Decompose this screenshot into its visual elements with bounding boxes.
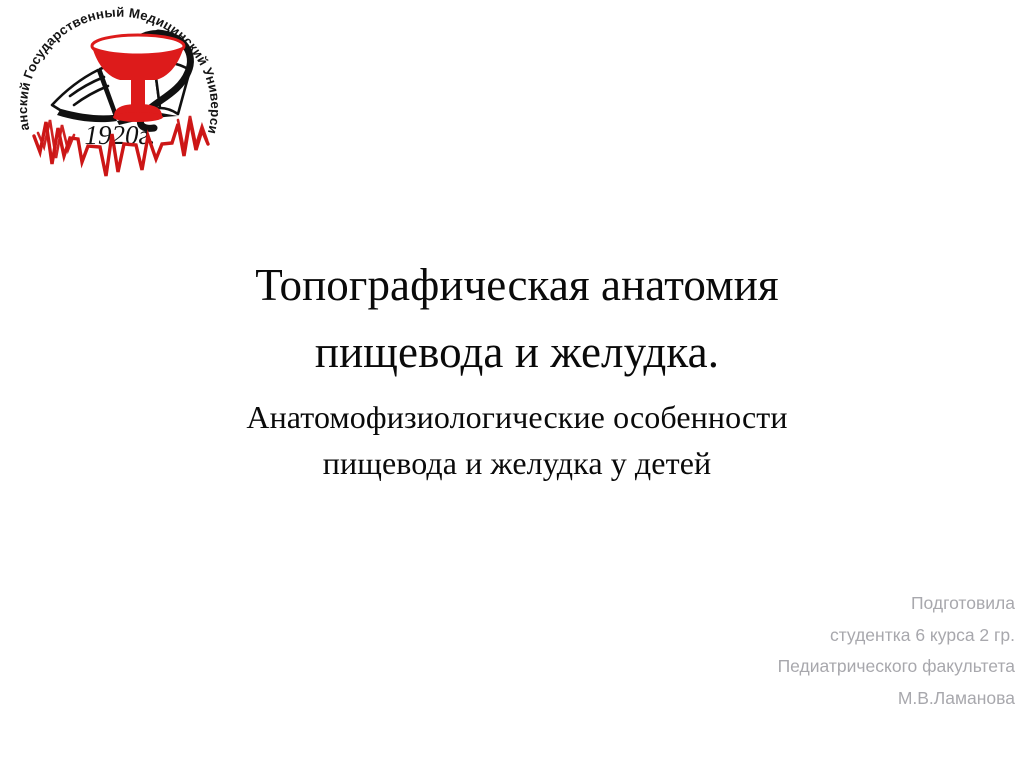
author-credits: Подготовила студентка 6 курса 2 гр. Педи… bbox=[455, 588, 1015, 714]
page-title: Топографическая анатомия пищевода и желу… bbox=[62, 252, 972, 385]
author-line-prepared-by: Подготовила bbox=[455, 588, 1015, 620]
author-line-course-group: студентка 6 курса 2 гр. bbox=[455, 620, 1015, 652]
author-line-faculty: Педиатрического факультета bbox=[455, 651, 1015, 683]
author-line-name: М.В.Ламанова bbox=[455, 683, 1015, 715]
title-slide: Кубанский Государственный Медицинский Ун… bbox=[0, 0, 1024, 767]
page-subtitle: Анатомофизиологические особенности пищев… bbox=[62, 395, 972, 487]
page-subtitle-line-2: пищевода и желудка у детей bbox=[62, 441, 972, 487]
university-logo: Кубанский Государственный Медицинский Ун… bbox=[8, 4, 230, 196]
page-title-line-2: пищевода и желудка. bbox=[62, 319, 972, 386]
slide-title-group: Топографическая анатомия пищевода и желу… bbox=[62, 252, 972, 487]
page-subtitle-line-1: Анатомофизиологические особенности bbox=[62, 395, 972, 441]
page-title-line-1: Топографическая анатомия bbox=[62, 252, 972, 319]
